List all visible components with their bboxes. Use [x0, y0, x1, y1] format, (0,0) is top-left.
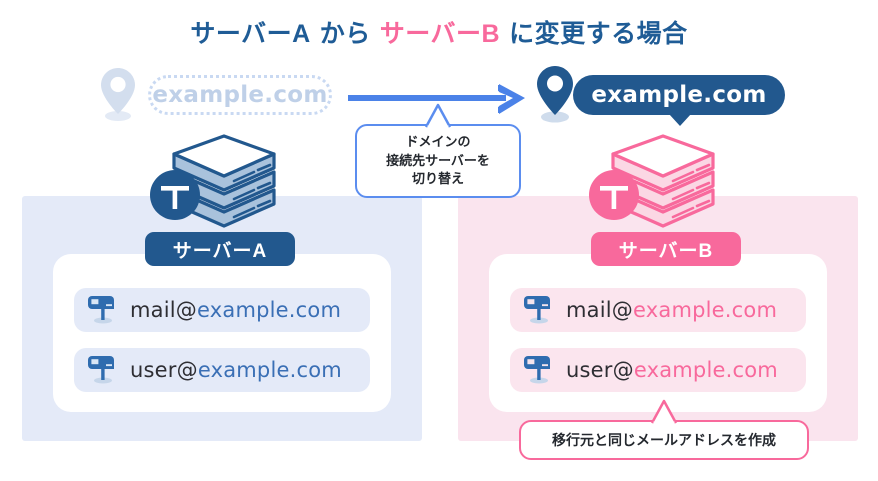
callout-line-2: 接続先サーバーを: [386, 152, 490, 171]
mailbox-icon: [88, 292, 118, 329]
list-item-mail-a-1: mail@example.com: [74, 288, 370, 332]
domain-label-after: example.com: [591, 82, 766, 108]
callout-switch-server: ドメインの 接続先サーバーを 切り替え: [355, 124, 521, 198]
title-part-suffix: に変更する場合: [509, 20, 688, 48]
mail-local: mail@: [130, 298, 197, 322]
mail-address: user@example.com: [566, 358, 778, 382]
mail-address: mail@example.com: [566, 298, 777, 322]
domain-badge-tail: [669, 114, 691, 126]
mail-local: user@: [566, 358, 634, 382]
diagram-canvas: サーバーAからサーバーBに変更する場合 example.com e: [0, 0, 878, 481]
callout-line-1: ドメインの: [405, 133, 470, 152]
mail-domain: example.com: [634, 358, 778, 382]
callout-line-3: 切り替え: [412, 170, 464, 189]
server-b-label-text: サーバーB: [619, 236, 714, 263]
list-item-mail-b-1: mail@example.com: [510, 288, 806, 332]
mail-local: user@: [130, 358, 198, 382]
domain-label-before: example.com: [152, 82, 327, 108]
mail-domain: example.com: [197, 298, 341, 322]
server-b-label: サーバーB: [591, 232, 741, 266]
title-part-server-a: サーバーA: [190, 20, 310, 48]
map-pin-icon-before: [96, 66, 140, 129]
mail-address: user@example.com: [130, 358, 342, 382]
title-part-server-b: サーバーB: [380, 20, 500, 48]
callout-create-same-addresses: 移行元と同じメールアドレスを作成: [519, 420, 809, 460]
page-title: サーバーAからサーバーBに変更する場合: [0, 14, 878, 50]
postal-mark-icon-b: [589, 170, 639, 220]
postal-mark-icon-a: [150, 170, 200, 220]
server-stack-icon-b: [585, 134, 725, 239]
domain-badge-after: example.com: [573, 75, 785, 115]
mail-domain: example.com: [198, 358, 342, 382]
mailbox-icon: [88, 352, 118, 389]
title-part-kara: から: [320, 20, 371, 48]
callout-pointer-up: [424, 102, 452, 128]
callout-pointer-up: [650, 398, 678, 424]
mail-local: mail@: [566, 298, 633, 322]
server-stack-icon-a: [146, 134, 286, 239]
list-item-mail-b-2: user@example.com: [510, 348, 806, 392]
list-item-mail-a-2: user@example.com: [74, 348, 370, 392]
server-a-label: サーバーA: [145, 232, 295, 266]
mailbox-icon: [524, 352, 554, 389]
mail-address: mail@example.com: [130, 298, 341, 322]
map-pin-icon-after: [532, 64, 578, 131]
domain-badge-before: example.com: [148, 75, 332, 115]
mail-domain: example.com: [633, 298, 777, 322]
callout-text: 移行元と同じメールアドレスを作成: [552, 430, 776, 450]
mailbox-icon: [524, 292, 554, 329]
server-a-label-text: サーバーA: [173, 236, 268, 263]
